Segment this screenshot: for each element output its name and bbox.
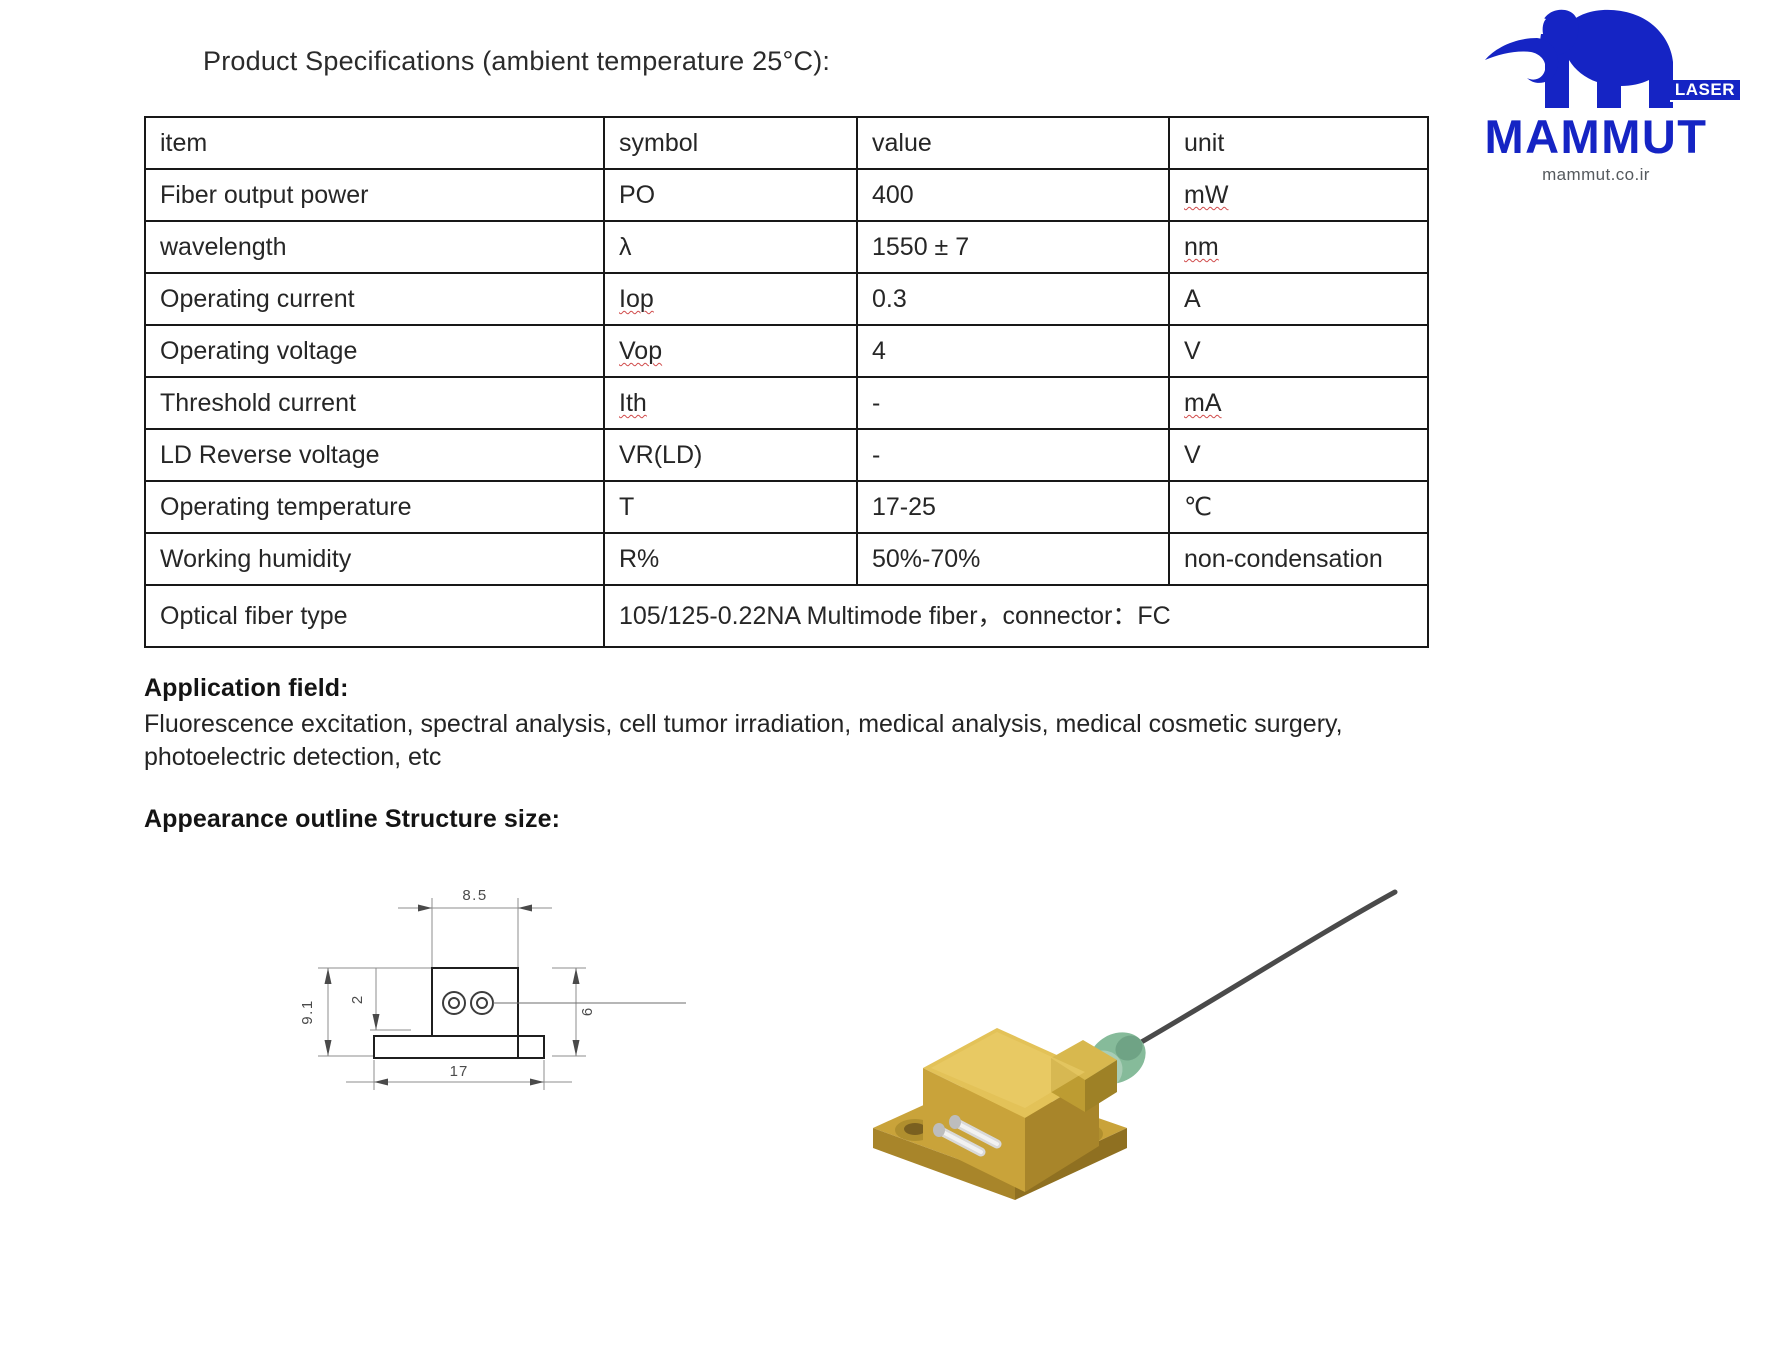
document-page: LASER MAMMUT mammut.co.ir Product Specif…: [0, 0, 1768, 1349]
table-row: wavelength λ 1550 ± 7 nm: [145, 221, 1428, 273]
logo-url: mammut.co.ir: [1446, 164, 1746, 186]
cell-value: -: [857, 429, 1169, 481]
cell-item: Fiber output power: [145, 169, 604, 221]
dimension-inner-height: 2: [349, 996, 366, 1004]
dimension-right-height: 6: [579, 1008, 596, 1016]
cell-value: 1550 ± 7: [857, 221, 1169, 273]
cell-symbol: PO: [604, 169, 857, 221]
outline-structure-heading: Appearance outline Structure size:: [144, 805, 560, 834]
cad-outline-drawing: 8.5 9.1 2 6 17: [286, 860, 686, 1110]
cell-unit-text: mW: [1184, 181, 1228, 209]
cell-symbol: Iop: [604, 273, 857, 325]
cell-symbol: Ith: [604, 377, 857, 429]
cell-symbol-text: Iop: [619, 285, 654, 313]
column-header-value: value: [857, 117, 1169, 169]
table-row: Operating voltage Vop 4 V: [145, 325, 1428, 377]
column-header-unit: unit: [1169, 117, 1428, 169]
cell-item: Operating temperature: [145, 481, 604, 533]
cell-unit: non-condensation: [1169, 533, 1428, 585]
cell-symbol-text: Vop: [619, 337, 662, 365]
logo-wordmark: MAMMUT: [1446, 112, 1746, 162]
cell-value: 17-25: [857, 481, 1169, 533]
cell-value: -: [857, 377, 1169, 429]
cell-symbol: VR(LD): [604, 429, 857, 481]
cell-value: 400: [857, 169, 1169, 221]
table-row: Operating current Iop 0.3 A: [145, 273, 1428, 325]
cell-value: 0.3: [857, 273, 1169, 325]
cell-item: Operating voltage: [145, 325, 604, 377]
mammoth-logo-icon: LASER: [1446, 4, 1746, 112]
cell-unit: A: [1169, 273, 1428, 325]
cell-item: wavelength: [145, 221, 604, 273]
table-row: Operating temperature T 17-25 ℃: [145, 481, 1428, 533]
column-header-symbol: symbol: [604, 117, 857, 169]
table-row: Working humidity R% 50%-70% non-condensa…: [145, 533, 1428, 585]
cell-unit: V: [1169, 429, 1428, 481]
table-row: Threshold current Ith - mA: [145, 377, 1428, 429]
cell-item: Optical fiber type: [145, 585, 604, 647]
cell-symbol-text: Ith: [619, 389, 647, 417]
cell-value: 4: [857, 325, 1169, 377]
application-field-body: Fluorescence excitation, spectral analys…: [144, 708, 1444, 774]
product-3d-illustration: [855, 880, 1495, 1200]
specifications-table: item symbol value unit Fiber output powe…: [144, 116, 1429, 648]
cell-symbol: λ: [604, 221, 857, 273]
cell-item: Working humidity: [145, 533, 604, 585]
table-header-row: item symbol value unit: [145, 117, 1428, 169]
table-row-fiber-type: Optical fiber type 105/125-0.22NA Multim…: [145, 585, 1428, 647]
table-row: Fiber output power PO 400 mW: [145, 169, 1428, 221]
cell-unit-text: nm: [1184, 233, 1219, 261]
cell-fiber-spec: 105/125-0.22NA Multimode fiber，connector…: [604, 585, 1428, 647]
cell-unit: nm: [1169, 221, 1428, 273]
cell-unit: mA: [1169, 377, 1428, 429]
cell-symbol: R%: [604, 533, 857, 585]
cell-unit: ℃: [1169, 481, 1428, 533]
table-row: LD Reverse voltage VR(LD) - V: [145, 429, 1428, 481]
cell-symbol: Vop: [604, 325, 857, 377]
cell-item: Threshold current: [145, 377, 604, 429]
brand-logo: LASER MAMMUT mammut.co.ir: [1446, 4, 1746, 186]
dimension-left-height: 9.1: [299, 999, 316, 1024]
dimension-bottom-width: 17: [450, 1063, 469, 1080]
fiber-pigtail: [1131, 892, 1395, 1048]
page-title: Product Specifications (ambient temperat…: [203, 46, 830, 77]
cell-item: Operating current: [145, 273, 604, 325]
cell-unit: V: [1169, 325, 1428, 377]
application-field-heading: Application field:: [144, 674, 349, 703]
column-header-item: item: [145, 117, 604, 169]
cell-unit: mW: [1169, 169, 1428, 221]
cell-value: 50%-70%: [857, 533, 1169, 585]
cell-item: LD Reverse voltage: [145, 429, 604, 481]
cell-symbol: T: [604, 481, 857, 533]
laser-badge: LASER: [1670, 80, 1740, 102]
cell-unit-text: mA: [1184, 389, 1222, 417]
dimension-top-width: 8.5: [462, 887, 487, 904]
